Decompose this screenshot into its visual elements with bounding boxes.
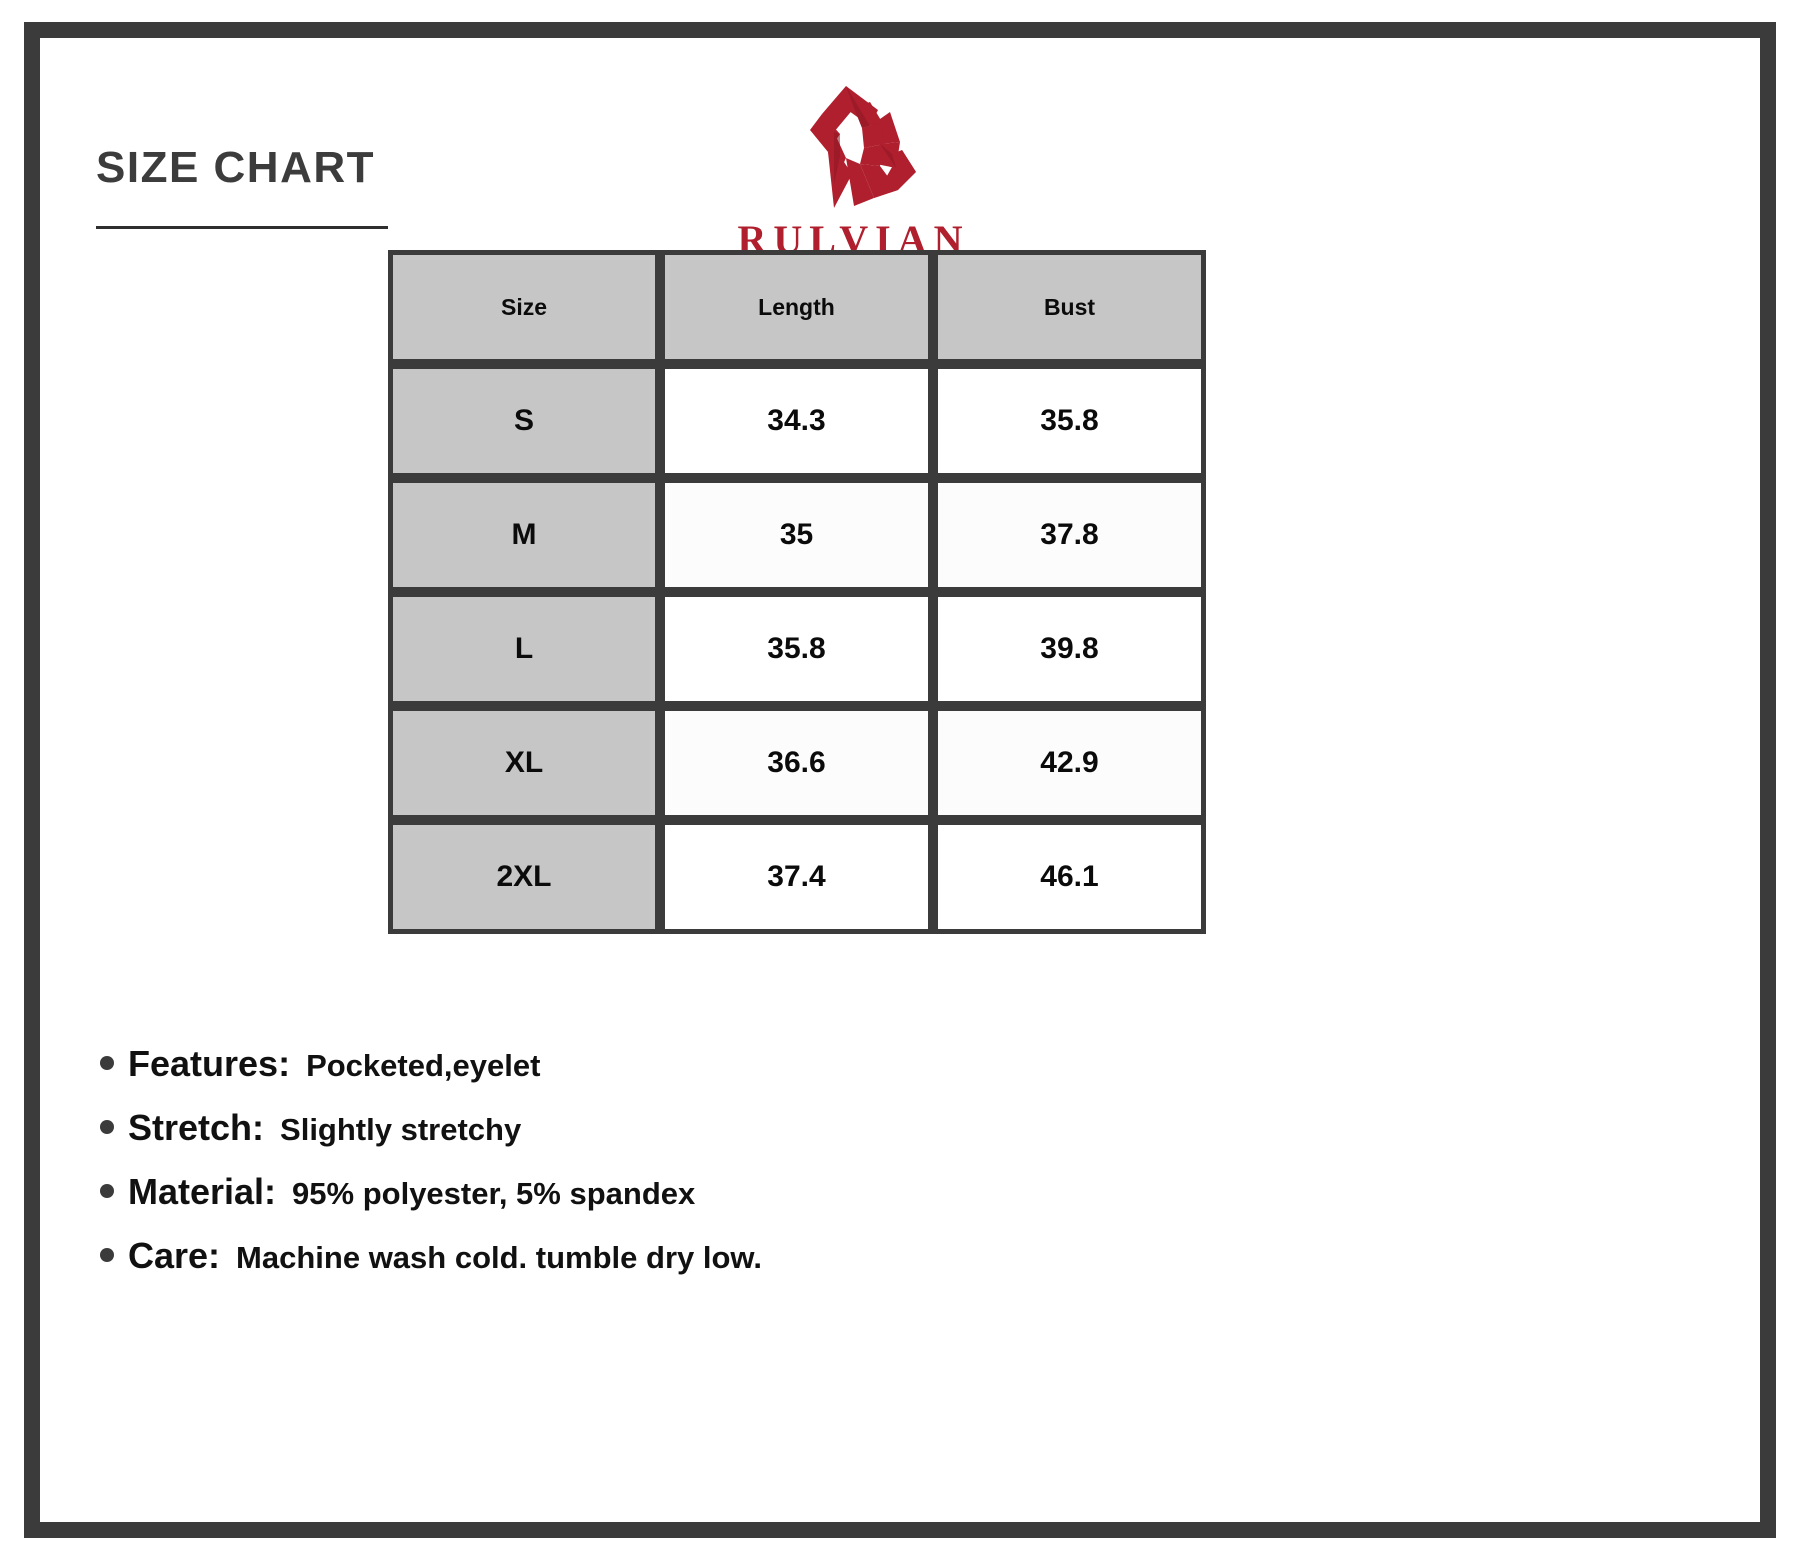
cell-bust: 39.8: [933, 592, 1206, 706]
brand-logo: RULVIAN: [680, 78, 1020, 260]
bullet-icon: [100, 1184, 114, 1198]
cell-bust: 42.9: [933, 706, 1206, 820]
cell-bust: 37.8: [933, 478, 1206, 592]
column-header-bust: Bust: [933, 250, 1206, 364]
table-row: L 35.8 39.8: [388, 592, 1206, 706]
table-row: S 34.3 35.8: [388, 364, 1206, 478]
cell-size: 2XL: [388, 820, 660, 934]
page-title: SIZE CHART: [96, 146, 396, 190]
cell-length: 34.3: [660, 364, 933, 478]
detail-label: Features:: [128, 1043, 290, 1085]
table-row: M 35 37.8: [388, 478, 1206, 592]
detail-value: Machine wash cold. tumble dry low.: [236, 1240, 762, 1276]
detail-value: Slightly stretchy: [280, 1112, 521, 1148]
column-header-size: Size: [388, 250, 660, 364]
cell-length: 37.4: [660, 820, 933, 934]
title-divider: [96, 226, 388, 229]
cell-size: XL: [388, 706, 660, 820]
detail-label: Care:: [128, 1235, 220, 1277]
cell-size: M: [388, 478, 660, 592]
detail-value: Pocketed,eyelet: [306, 1048, 540, 1084]
list-item: Features: Pocketed,eyelet: [100, 1043, 1400, 1085]
size-chart-page: SIZE CHART: [0, 0, 1800, 1560]
page-border-frame: SIZE CHART: [24, 22, 1776, 1538]
detail-label: Material:: [128, 1171, 276, 1213]
detail-value: 95% polyester, 5% spandex: [292, 1176, 695, 1212]
list-item: Care: Machine wash cold. tumble dry low.: [100, 1235, 1400, 1277]
bullet-icon: [100, 1120, 114, 1134]
page-content: SIZE CHART: [40, 38, 1760, 1522]
page-title-block: SIZE CHART: [96, 146, 396, 229]
cell-bust: 46.1: [933, 820, 1206, 934]
list-item: Stretch: Slightly stretchy: [100, 1107, 1400, 1149]
list-item: Material: 95% polyester, 5% spandex: [100, 1171, 1400, 1213]
column-header-length: Length: [660, 250, 933, 364]
rulvian-r-monogram-icon: [680, 78, 1020, 218]
cell-size: L: [388, 592, 660, 706]
product-details-list: Features: Pocketed,eyelet Stretch: Sligh…: [100, 1043, 1400, 1299]
cell-size: S: [388, 364, 660, 478]
size-table-wrapper: Size Length Bust S 34.3 35.8 M 35: [388, 250, 1206, 934]
table-header-row: Size Length Bust: [388, 250, 1206, 364]
cell-length: 36.6: [660, 706, 933, 820]
table-row: XL 36.6 42.9: [388, 706, 1206, 820]
cell-length: 35.8: [660, 592, 933, 706]
bullet-icon: [100, 1248, 114, 1262]
cell-bust: 35.8: [933, 364, 1206, 478]
bullet-icon: [100, 1056, 114, 1070]
detail-label: Stretch:: [128, 1107, 264, 1149]
cell-length: 35: [660, 478, 933, 592]
table-row: 2XL 37.4 46.1: [388, 820, 1206, 934]
size-table: Size Length Bust S 34.3 35.8 M 35: [388, 250, 1206, 934]
